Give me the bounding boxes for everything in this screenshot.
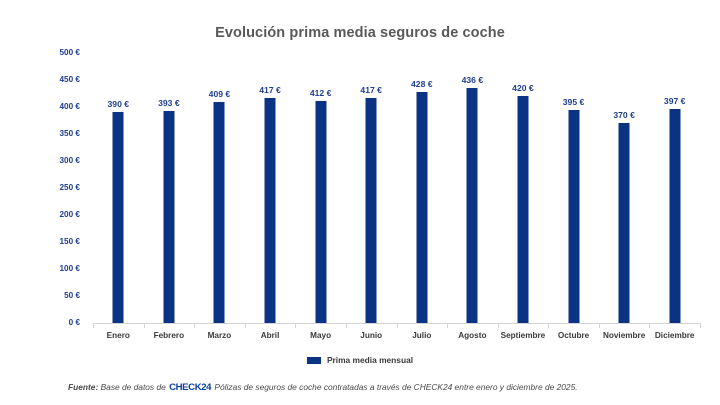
x-axis-tick-mark bbox=[498, 323, 499, 328]
bar-abril[interactable] bbox=[265, 98, 276, 323]
bar-mayo[interactable] bbox=[315, 101, 326, 323]
x-axis-tick-label: Diciembre bbox=[649, 331, 700, 340]
x-axis-tick-mark bbox=[447, 323, 448, 328]
bar-slot: 436 € bbox=[447, 53, 498, 323]
bar-agosto[interactable] bbox=[467, 88, 478, 323]
x-axis-tick-mark bbox=[397, 323, 398, 328]
x-axis-tick-label: Junio bbox=[346, 331, 397, 340]
bar-value-label: 412 € bbox=[310, 88, 332, 98]
y-axis-tick-label: 200 € bbox=[60, 210, 81, 219]
bar-value-label: 397 € bbox=[664, 96, 686, 106]
y-axis: 500 €450 €400 €350 €300 €250 €200 €150 €… bbox=[0, 0, 88, 405]
y-axis-tick-label: 500 € bbox=[60, 48, 81, 57]
x-axis-tick-mark bbox=[245, 323, 246, 328]
x-axis-tick-mark bbox=[346, 323, 347, 328]
bar-octubre[interactable] bbox=[568, 110, 579, 323]
bar-slot: 412 € bbox=[295, 53, 346, 323]
bar-febrero[interactable] bbox=[163, 111, 174, 323]
y-axis-tick-label: 400 € bbox=[60, 102, 81, 111]
footnote-text-after: Pólizas de seguros de coche contratadas … bbox=[214, 382, 577, 392]
x-axis-tick-label: Noviembre bbox=[599, 331, 650, 340]
bar-slot: 397 € bbox=[649, 53, 700, 323]
bar-value-label: 393 € bbox=[158, 98, 180, 108]
y-axis-tick-label: 150 € bbox=[60, 237, 81, 246]
plot-area: 390 €393 €409 €417 €412 €417 €428 €436 €… bbox=[93, 53, 700, 323]
bar-value-label: 417 € bbox=[259, 85, 281, 95]
bar-junio[interactable] bbox=[366, 98, 377, 323]
source-footnote: Fuente: Base de datos de CHECK24 Pólizas… bbox=[68, 382, 668, 393]
check24-logo: CHECK24 bbox=[168, 382, 212, 393]
bar-septiembre[interactable] bbox=[517, 96, 528, 323]
y-axis-tick-label: 300 € bbox=[60, 156, 81, 165]
x-axis-tick-mark bbox=[144, 323, 145, 328]
bar-value-label: 420 € bbox=[512, 83, 534, 93]
bar-value-label: 428 € bbox=[411, 79, 433, 89]
bar-value-label: 390 € bbox=[108, 99, 130, 109]
x-axis-tick-label: Mayo bbox=[295, 331, 346, 340]
bar-slot: 390 € bbox=[93, 53, 144, 323]
x-axis-tick-label: Febrero bbox=[144, 331, 195, 340]
x-axis-tick-mark bbox=[194, 323, 195, 328]
y-axis-tick-label: 100 € bbox=[60, 264, 81, 273]
bar-slot: 409 € bbox=[194, 53, 245, 323]
bar-julio[interactable] bbox=[416, 92, 427, 323]
y-axis-tick-label: 250 € bbox=[60, 183, 81, 192]
bar-noviembre[interactable] bbox=[619, 123, 630, 323]
bar-slot: 417 € bbox=[245, 53, 296, 323]
x-axis-tick-label: Octubre bbox=[548, 331, 599, 340]
x-axis-tick-mark bbox=[295, 323, 296, 328]
y-axis-tick-label: 50 € bbox=[64, 291, 80, 300]
bar-enero[interactable] bbox=[113, 112, 124, 323]
bar-slot: 370 € bbox=[599, 53, 650, 323]
x-axis-tick-label: Enero bbox=[93, 331, 144, 340]
x-axis-tick-label: Julio bbox=[397, 331, 448, 340]
bar-diciembre[interactable] bbox=[669, 109, 680, 323]
bar-value-label: 370 € bbox=[613, 110, 635, 120]
legend-swatch-icon bbox=[307, 357, 321, 364]
y-axis-tick-label: 450 € bbox=[60, 75, 81, 84]
bar-value-label: 395 € bbox=[563, 97, 585, 107]
bar-slot: 395 € bbox=[548, 53, 599, 323]
y-axis-tick-label: 0 € bbox=[69, 318, 80, 327]
bar-value-label: 409 € bbox=[209, 89, 231, 99]
y-axis-tick-label: 350 € bbox=[60, 129, 81, 138]
chart-legend: Prima media mensual bbox=[0, 355, 720, 365]
bar-slot: 393 € bbox=[144, 53, 195, 323]
bar-value-label: 436 € bbox=[462, 75, 484, 85]
bar-marzo[interactable] bbox=[214, 102, 225, 323]
bar-slot: 417 € bbox=[346, 53, 397, 323]
bar-value-label: 417 € bbox=[360, 85, 382, 95]
x-axis-tick-label: Abril bbox=[245, 331, 296, 340]
x-axis-tick-mark bbox=[649, 323, 650, 328]
bar-slot: 428 € bbox=[397, 53, 448, 323]
x-axis-tick-mark bbox=[548, 323, 549, 328]
x-axis-tick-label: Septiembre bbox=[498, 331, 549, 340]
x-axis-tick-mark bbox=[93, 323, 94, 328]
x-axis-tick-label: Marzo bbox=[194, 331, 245, 340]
x-axis-tick-mark bbox=[599, 323, 600, 328]
footnote-source-label: Fuente: bbox=[68, 382, 98, 392]
bar-slot: 420 € bbox=[498, 53, 549, 323]
footnote-text-before: Base de datos de bbox=[101, 382, 166, 392]
legend-label: Prima media mensual bbox=[327, 355, 413, 365]
x-axis-tick-mark bbox=[700, 323, 701, 328]
x-axis-tick-label: Agosto bbox=[447, 331, 498, 340]
page-title: Evolución prima media seguros de coche bbox=[0, 25, 720, 41]
